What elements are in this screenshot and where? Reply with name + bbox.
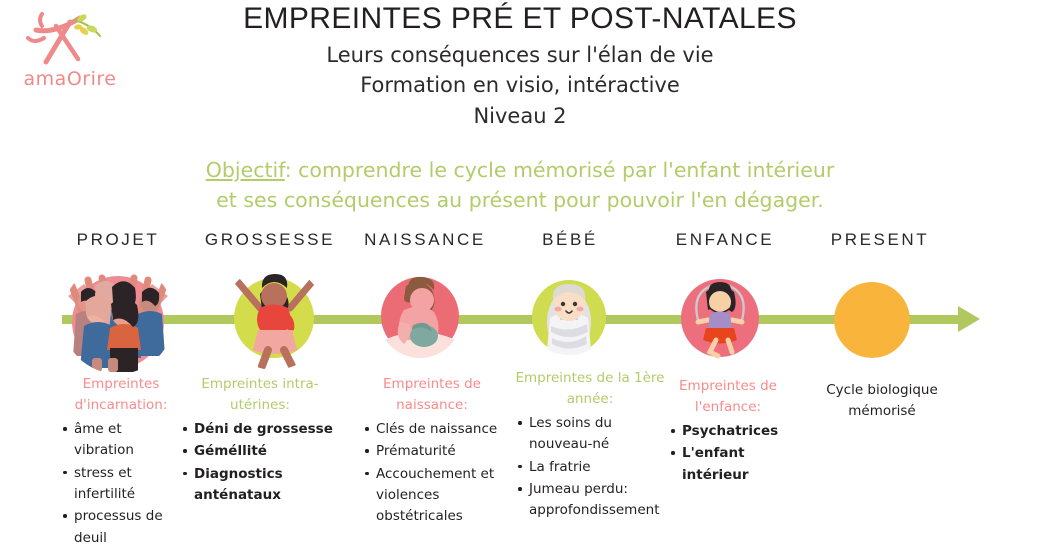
- column-heading-enfance: Empreintes de l'enfance:: [668, 376, 788, 417]
- list-item: processus de deuil: [60, 506, 182, 549]
- column-list-projet: âme et vibration stress et infertilité p…: [60, 419, 182, 549]
- node-enfance[interactable]: [678, 276, 762, 360]
- column-heading-projet: Empreintes d'incarnation:: [60, 374, 182, 415]
- subtitle-line-2: Formation en visio, intéractive: [140, 71, 900, 101]
- objective-label: Objectif: [206, 158, 285, 182]
- list-item: Prématurité: [362, 441, 502, 462]
- subtitle-group: Leurs conséquences sur l'élan de vie For…: [140, 41, 900, 132]
- objective-block: Objectif: comprendre le cycle mémorisé p…: [100, 156, 940, 215]
- pregnant-woman-illustration: [222, 266, 326, 370]
- list-item: L'enfant intérieur: [668, 443, 788, 486]
- objective-separator: :: [285, 158, 298, 182]
- column-enfance: Empreintes de l'enfance: Psychatrices L'…: [668, 376, 788, 487]
- subtitle-line-1: Leurs conséquences sur l'élan de vie: [140, 41, 900, 71]
- title-block: EMPREINTES PRÉ ET POST-NATALES Leurs con…: [140, 2, 900, 132]
- column-list-bebe: Les soins du nouveau-né La fratrie Jumea…: [515, 413, 665, 522]
- group-of-people-illustration: [62, 262, 174, 374]
- list-item: Géméllité: [180, 441, 340, 462]
- list-item: Déni de grossesse: [180, 419, 340, 440]
- column-bebe: Empreintes de la 1ère année: Les soins d…: [515, 368, 665, 523]
- list-item: stress et infertilité: [60, 463, 182, 506]
- timeline-line: [62, 315, 962, 324]
- orange-circle-illustration: [834, 282, 910, 358]
- girl-jumping-rope-illustration: [678, 276, 762, 360]
- column-present: Cycle biologique mémorisé: [810, 380, 954, 422]
- list-item: Accouchement et violences obstétricales: [362, 464, 502, 528]
- page-title: EMPREINTES PRÉ ET POST-NATALES: [140, 2, 900, 37]
- column-list-grossesse: Déni de grossesse Géméllité Diagnostics …: [180, 419, 340, 506]
- node-bebe[interactable]: [530, 278, 608, 356]
- brand-name: amaOrire: [12, 68, 128, 90]
- column-heading-naissance: Empreintes de naissance:: [362, 374, 502, 415]
- node-projet[interactable]: [62, 262, 174, 374]
- list-item: Les soins du nouveau-né: [515, 413, 665, 456]
- objective-line-2: et ses conséquences au présent pour pouv…: [100, 186, 940, 216]
- list-item: Diagnostics anténataux: [180, 464, 340, 507]
- brand-logo: amaOrire: [8, 4, 128, 96]
- column-projet: Empreintes d'incarnation: âme et vibrati…: [60, 374, 182, 550]
- phase-label-bebe: BÉBÉ: [505, 230, 635, 250]
- objective-line-1: Objectif: comprendre le cycle mémorisé p…: [100, 156, 940, 186]
- objective-text-1: comprendre le cycle mémorisé par l'enfan…: [298, 158, 834, 182]
- phase-label-naissance: NAISSANCE: [350, 230, 500, 250]
- phase-label-projet: PROJET: [48, 230, 188, 250]
- slide-canvas: amaOrire EMPREINTES PRÉ ET POST-NATALES …: [0, 0, 1040, 556]
- mother-breastfeeding-illustration: [378, 274, 462, 358]
- arrow-right-icon: [958, 306, 980, 332]
- amaorire-figure-leaves-logo: [8, 4, 128, 74]
- column-heading-bebe: Empreintes de la 1ère année:: [515, 368, 665, 409]
- node-grossesse[interactable]: [222, 266, 326, 370]
- phase-label-grossesse: GROSSESSE: [190, 230, 350, 250]
- node-naissance[interactable]: [378, 274, 462, 358]
- phase-label-present: PRESENT: [805, 230, 955, 250]
- column-list-enfance: Psychatrices L'enfant intérieur: [668, 421, 788, 486]
- list-item: Psychatrices: [668, 421, 788, 442]
- column-heading-grossesse: Empreintes intra-utérines:: [180, 374, 340, 415]
- node-present[interactable]: [834, 282, 910, 358]
- subtitle-line-3: Niveau 2: [140, 102, 900, 132]
- column-list-naissance: Clés de naissance Prématurité Accoucheme…: [362, 419, 502, 528]
- list-item: Jumeau perdu: approfondissement: [515, 479, 665, 522]
- phase-label-enfance: ENFANCE: [650, 230, 800, 250]
- list-item: âme et vibration: [60, 419, 182, 462]
- column-grossesse: Empreintes intra-utérines: Déni de gross…: [180, 374, 340, 507]
- list-item: Clés de naissance: [362, 419, 502, 440]
- list-item: La fratrie: [515, 457, 665, 478]
- column-text-present: Cycle biologique mémorisé: [810, 380, 954, 422]
- swaddled-baby-illustration: [530, 278, 608, 356]
- column-naissance: Empreintes de naissance: Clés de naissan…: [362, 374, 502, 529]
